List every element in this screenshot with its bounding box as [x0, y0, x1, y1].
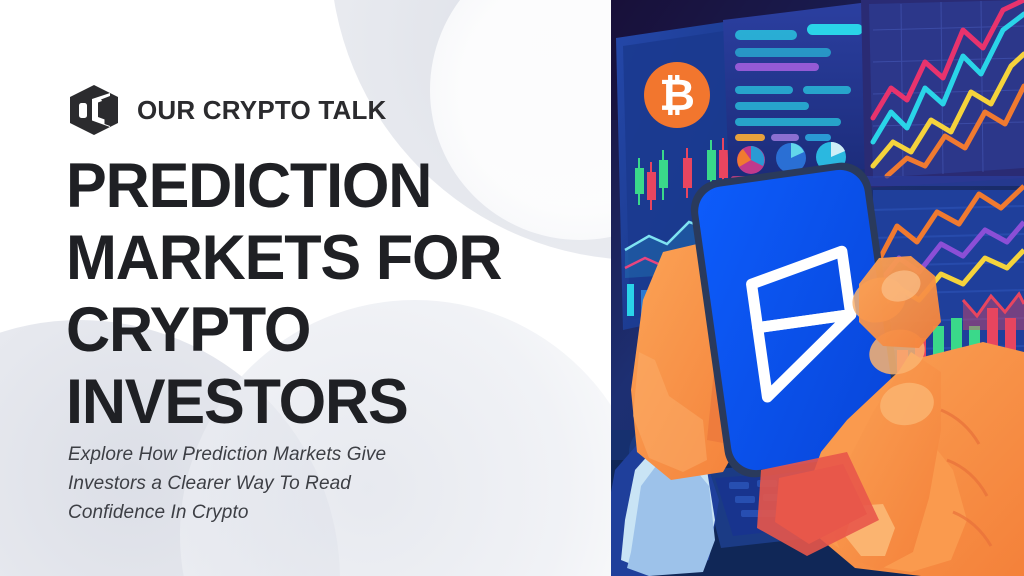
headline-line-1: PREDICTION — [66, 150, 580, 222]
headline-line-4: INVESTORS — [66, 366, 580, 438]
page-subtitle: Explore How Prediction Markets Give Inve… — [68, 440, 498, 527]
bitcoin-icon: ₿ — [644, 62, 710, 128]
svg-text:₿: ₿ — [659, 71, 695, 120]
subtitle-line-3: Confidence In Crypto — [68, 498, 498, 527]
subtitle-line-1: Explore How Prediction Markets Give — [68, 440, 498, 469]
brand-logo[interactable]: OUR CRYPTO TALK — [68, 84, 387, 136]
promo-banner: OUR CRYPTO TALK PREDICTION MARKETS FOR C… — [0, 0, 1024, 576]
monitor-right-top — [861, 0, 1024, 188]
headline-line-3: CRYPTO — [66, 294, 580, 366]
page-title: PREDICTION MARKETS FOR CRYPTO INVESTORS — [66, 150, 596, 438]
illustration-artwork: ₿ — [611, 0, 1024, 576]
headline-line-2: MARKETS FOR — [66, 222, 580, 294]
monitor-center — [723, 2, 873, 186]
subtitle-line-2: Investors a Clearer Way To Read — [68, 469, 498, 498]
crypto-illustration: ₿ — [611, 0, 1024, 576]
hexagon-logo-icon — [68, 84, 124, 136]
brand-name: OUR CRYPTO TALK — [137, 95, 387, 126]
